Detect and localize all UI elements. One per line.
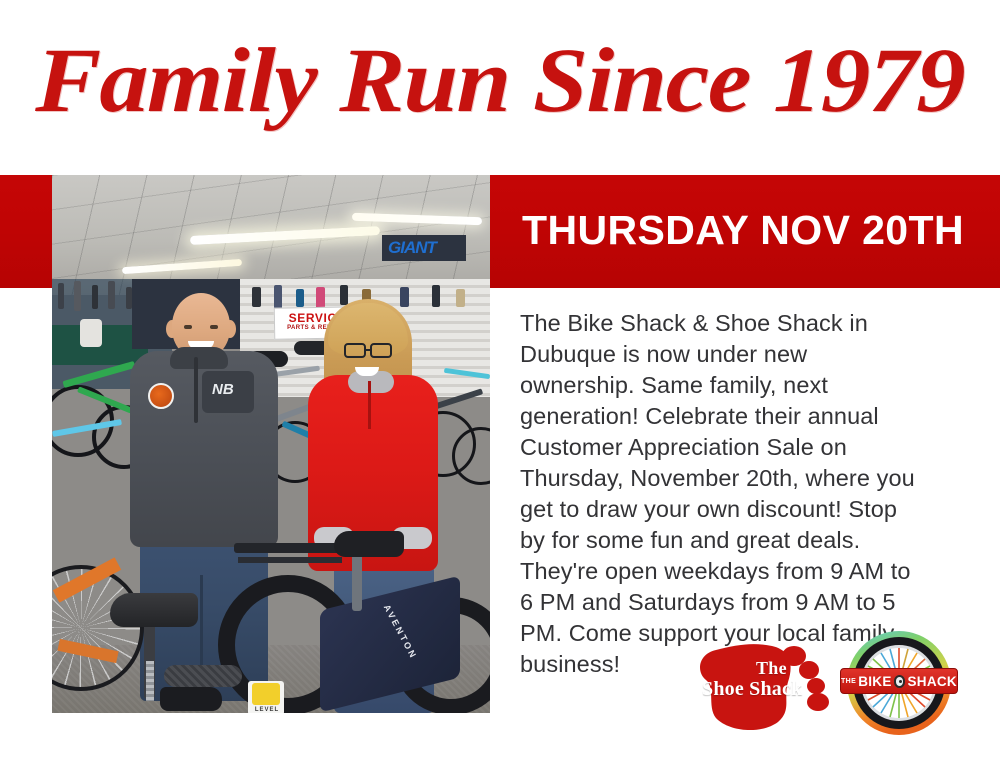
shoe-shack-logo-line2: Shoe Shack <box>702 678 802 701</box>
photo-apparel-logo: NB <box>212 381 234 398</box>
photo-ebike-seatpost <box>352 553 362 611</box>
bike-shack-logo[interactable]: THE BIKE SHACK <box>838 628 960 738</box>
photo-person-man-eye <box>184 325 192 329</box>
photo-tool <box>58 283 64 309</box>
photo-accessory <box>296 289 304 307</box>
page-title: Family Run Since 1979 <box>35 34 965 126</box>
storefront-photo: GIANT SERVICE PARTS & REPAIRS NB <box>52 175 490 713</box>
photo-tool <box>108 281 115 309</box>
shoe-shack-logo-line1: The <box>756 658 787 679</box>
bike-shack-logo-the: THE <box>841 678 856 685</box>
photo-person-man-shoe <box>160 687 222 711</box>
photo-person-woman-glasses <box>344 343 366 358</box>
promo-description: The Bike Shack & Shoe Shack in Dubuque i… <box>520 308 920 680</box>
photo-accessory <box>432 285 440 307</box>
photo-shoulder-patch <box>148 383 174 409</box>
photo-tool <box>74 281 81 311</box>
photo-foreground-saddle <box>110 593 198 627</box>
photo-person-man-zipper <box>194 357 198 423</box>
photo-foreground-seatpost <box>146 661 154 701</box>
photo-person-woman-zipper <box>368 381 371 429</box>
photo-person-man-collar <box>170 347 228 369</box>
photo-accessory <box>400 287 409 307</box>
photo-person-woman-glasses <box>365 349 371 351</box>
event-date-label: THURSDAY NOV 20TH <box>522 205 964 255</box>
photo-tool <box>92 285 98 309</box>
headline-banner: Family Run Since 1979 <box>0 30 1000 130</box>
photo-accessory <box>340 285 348 305</box>
photo-person-woman-glasses <box>370 343 392 358</box>
photo-accessory <box>456 289 465 307</box>
photo-brand-sign-text: GIANT <box>388 238 436 258</box>
bike-shack-logo-word2: SHACK <box>907 674 957 689</box>
photo-hang-tag-text: LEVEL <box>250 707 284 713</box>
photo-handlebar-grip <box>164 665 242 687</box>
photo-accessory <box>274 285 282 309</box>
photo-ebike-rack <box>238 557 342 563</box>
photo-accessory <box>316 287 325 309</box>
shoe-shack-logo[interactable]: The Shoe Shack <box>688 636 832 734</box>
photo-ebike-saddle <box>334 531 404 557</box>
photo-hang-tag-badge <box>252 683 280 705</box>
photo-ebike-rack <box>234 543 350 553</box>
photo-tool <box>126 287 132 309</box>
photo-accessory <box>252 287 261 307</box>
bike-shack-logo-word1: BIKE <box>858 674 891 689</box>
photo-person-man-eye <box>210 325 218 329</box>
bike-shack-logo-band: THE BIKE SHACK <box>840 668 958 694</box>
photo-bottle <box>80 319 102 347</box>
wheel-hub-icon <box>894 675 906 688</box>
